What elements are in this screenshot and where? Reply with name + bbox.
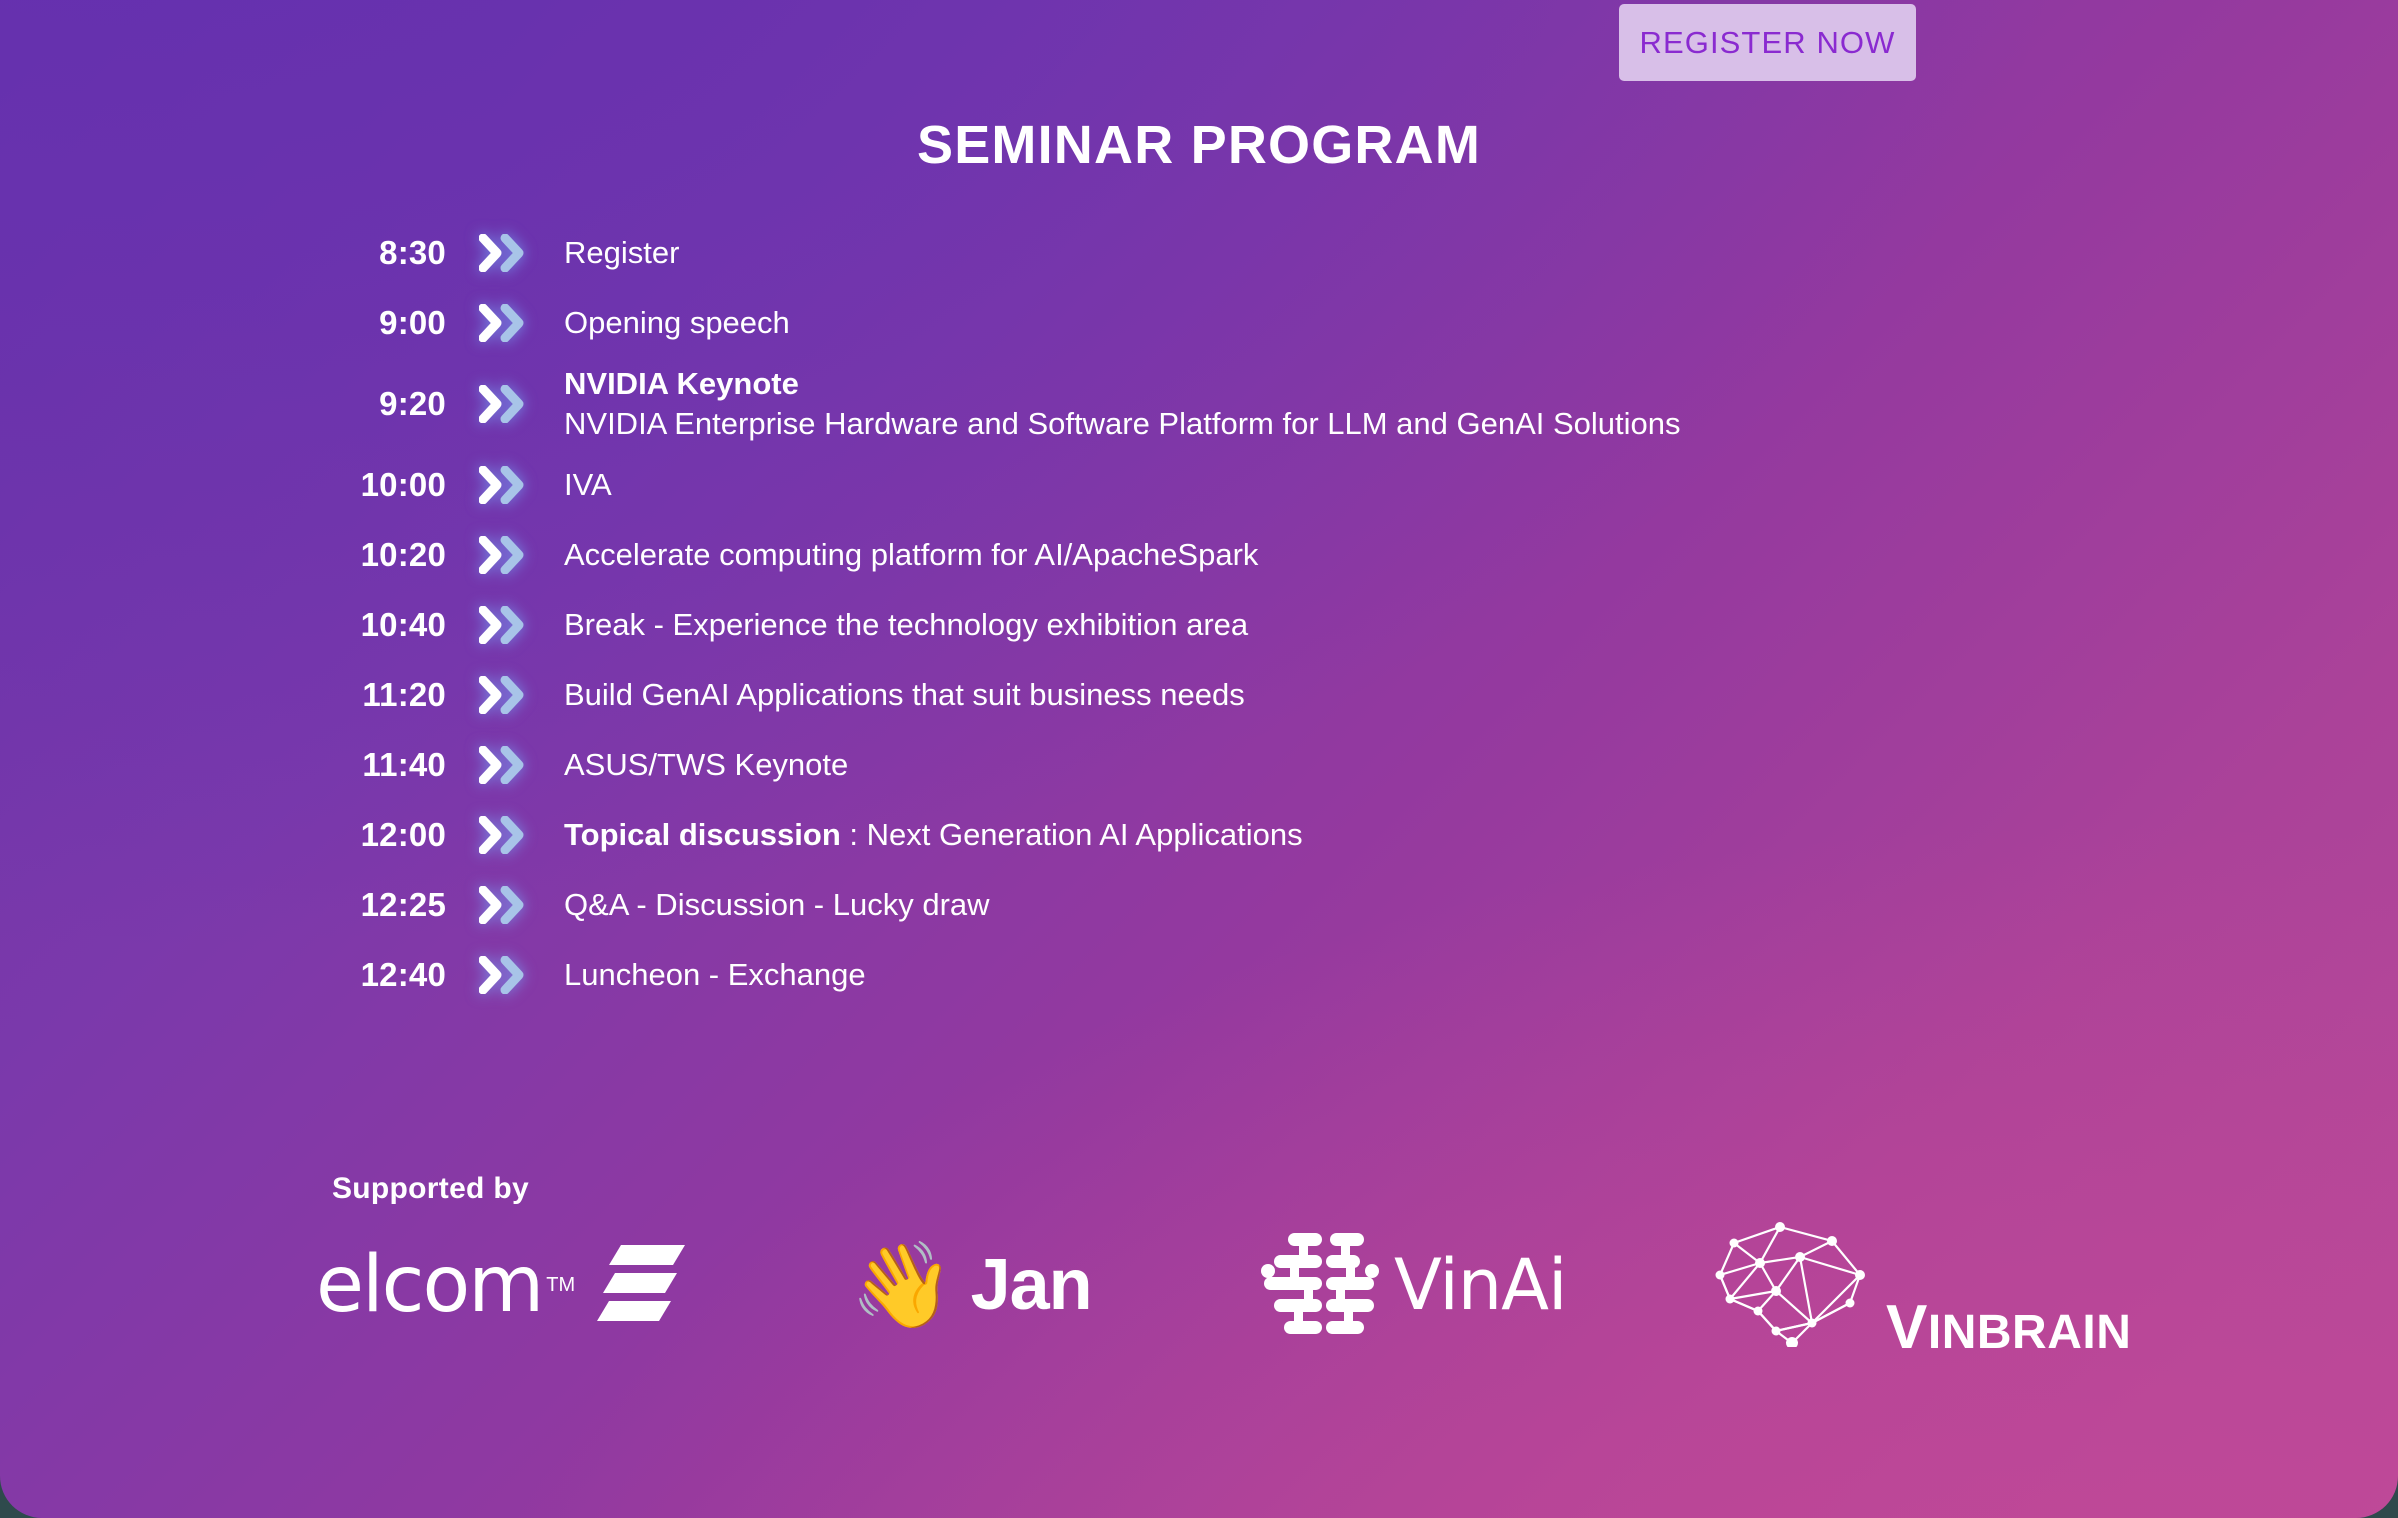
schedule-description: IVA: [564, 465, 612, 505]
vinbrain-wordmark: VINBRAIN: [1886, 1292, 2131, 1363]
schedule-time: 9:00: [330, 304, 446, 342]
double-chevron-right-icon: [468, 304, 542, 342]
jan-wordmark: Jan: [971, 1244, 1092, 1326]
schedule-time: 12:00: [330, 816, 446, 854]
vinai-wordmark: VinAi: [1394, 1244, 1567, 1326]
schedule-description: Register: [564, 233, 679, 273]
sponsor-logos: elcom TM 👋 Jan: [310, 1220, 2130, 1350]
vinai-circuit-mark-icon: [1260, 1227, 1380, 1344]
schedule-subtitle: NVIDIA Enterprise Hardware and Software …: [564, 404, 1681, 444]
schedule-list: 8:30 Register 9:00 Opening speech 9:20 N…: [330, 218, 2230, 1010]
schedule-bold-prefix: Topical discussion: [564, 817, 841, 852]
schedule-row: 11:40 ASUS/TWS Keynote: [330, 730, 2230, 800]
sponsor-logo-elcom: elcom TM: [316, 1220, 687, 1350]
schedule-time: 8:30: [330, 234, 446, 272]
schedule-description: ASUS/TWS Keynote: [564, 745, 848, 785]
schedule-description: Accelerate computing platform for AI/Apa…: [564, 535, 1258, 575]
schedule-description: NVIDIA Keynote NVIDIA Enterprise Hardwar…: [564, 364, 1681, 443]
schedule-row: 10:00 IVA: [330, 450, 2230, 520]
schedule-description: Opening speech: [564, 303, 790, 343]
schedule-row: 12:00 Topical discussion : Next Generati…: [330, 800, 2230, 870]
schedule-row: 11:20 Build GenAI Applications that suit…: [330, 660, 2230, 730]
schedule-row: 10:40 Break - Experience the technology …: [330, 590, 2230, 660]
schedule-time: 10:00: [330, 466, 446, 504]
double-chevron-right-icon: [468, 536, 542, 574]
double-chevron-right-icon: [468, 466, 542, 504]
vinbrain-brain-network-icon: [1700, 1219, 1890, 1352]
double-chevron-right-icon: [468, 886, 542, 924]
double-chevron-right-icon: [468, 816, 542, 854]
waving-hand-icon: 👋: [850, 1243, 955, 1327]
schedule-row: 8:30 Register: [330, 218, 2230, 288]
double-chevron-right-icon: [468, 676, 542, 714]
sponsor-logo-vinai: VinAi: [1260, 1220, 1567, 1350]
page-title: SEMINAR PROGRAM: [0, 114, 2398, 176]
vinbrain-wordmark-capital: V: [1886, 1293, 1928, 1362]
sponsor-logo-vinbrain: VINBRAIN: [1700, 1220, 1890, 1350]
trademark-symbol: TM: [546, 1274, 575, 1297]
schedule-row: 9:00 Opening speech: [330, 288, 2230, 358]
double-chevron-right-icon: [468, 385, 542, 423]
schedule-row: 9:20 NVIDIA Keynote NVIDIA Enterprise Ha…: [330, 358, 2230, 450]
register-now-button[interactable]: REGISTER NOW: [1619, 4, 1916, 81]
double-chevron-right-icon: [468, 234, 542, 272]
vinbrain-wordmark-rest: INBRAIN: [1928, 1306, 2132, 1359]
supported-by-label: Supported by: [332, 1172, 529, 1206]
schedule-description: Q&A - Discussion - Lucky draw: [564, 885, 990, 925]
seminar-program-slide: REGISTER NOW SEMINAR PROGRAM 8:30 Regist…: [0, 0, 2398, 1518]
elcom-wordmark: elcom: [316, 1246, 542, 1324]
schedule-time: 12:40: [330, 956, 446, 994]
schedule-time: 11:40: [330, 746, 446, 784]
double-chevron-right-icon: [468, 956, 542, 994]
schedule-row: 10:20 Accelerate computing platform for …: [330, 520, 2230, 590]
schedule-time: 10:40: [330, 606, 446, 644]
sponsor-logo-jan: 👋 Jan: [850, 1220, 1092, 1350]
schedule-description: Build GenAI Applications that suit busin…: [564, 675, 1245, 715]
double-chevron-right-icon: [468, 746, 542, 784]
schedule-time: 10:20: [330, 536, 446, 574]
elcom-e-mark-icon: [591, 1235, 687, 1336]
schedule-time: 9:20: [330, 385, 446, 423]
schedule-description: Break - Experience the technology exhibi…: [564, 605, 1248, 645]
double-chevron-right-icon: [468, 606, 542, 644]
schedule-row: 12:40 Luncheon - Exchange: [330, 940, 2230, 1010]
schedule-row: 12:25 Q&A - Discussion - Lucky draw: [330, 870, 2230, 940]
schedule-time: 11:20: [330, 676, 446, 714]
schedule-rest-text: : Next Generation AI Applications: [841, 817, 1303, 852]
schedule-title: NVIDIA Keynote: [564, 364, 1681, 404]
schedule-description: Luncheon - Exchange: [564, 955, 866, 995]
schedule-time: 12:25: [330, 886, 446, 924]
schedule-description: Topical discussion : Next Generation AI …: [564, 815, 1303, 855]
